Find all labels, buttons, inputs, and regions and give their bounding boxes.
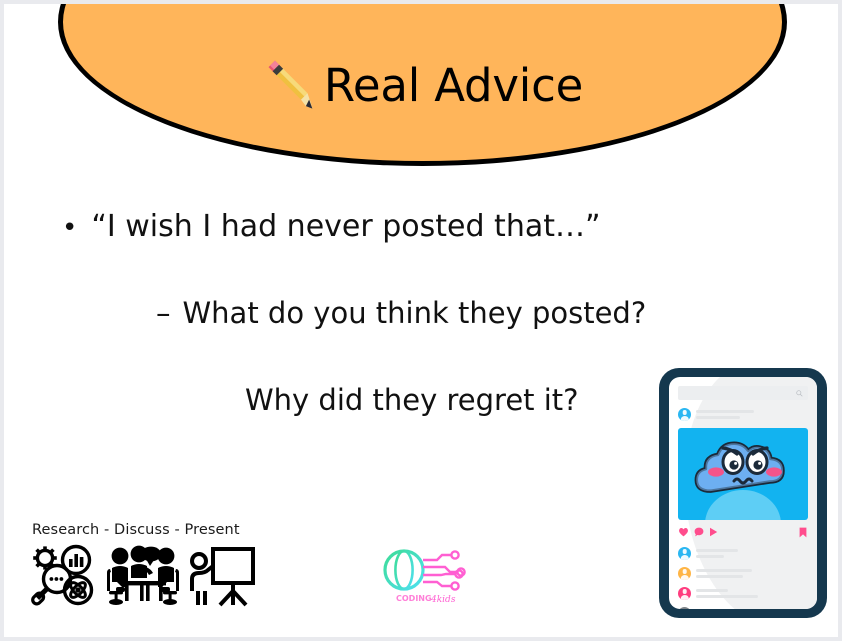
bullet-line-question-2: Why did they regret it?	[245, 385, 579, 417]
slide-frame: Real Advice • “I wish I had never posted…	[0, 0, 842, 641]
dash-marker: –	[156, 298, 171, 330]
comment-placeholder	[696, 589, 758, 598]
slide-canvas: Real Advice • “I wish I had never posted…	[4, 4, 838, 637]
globe-icon	[385, 551, 423, 589]
brand-word-secondary: 4kids	[430, 595, 456, 605]
slide-title-row: Real Advice	[58, 48, 787, 122]
list-item[interactable]	[678, 567, 808, 580]
list-item[interactable]	[678, 587, 808, 600]
search-input[interactable]	[678, 386, 808, 400]
list-item[interactable]	[678, 547, 808, 560]
comment-placeholder	[696, 549, 738, 558]
brand-word-primary: CODING	[396, 594, 432, 603]
post-header	[678, 408, 754, 421]
bullet-line-quote: • “I wish I had never posted that…”	[62, 210, 601, 243]
phone-mockup	[659, 368, 827, 618]
avatar	[678, 547, 691, 560]
footer-caption: Research - Discuss - Present	[32, 522, 278, 538]
bullet-marker: •	[62, 215, 77, 241]
worried-cloud-icon	[678, 428, 808, 520]
bullet-line-quote-text: “I wish I had never posted that…”	[91, 210, 600, 243]
bullet-line-question-1: – What do you think they posted?	[156, 298, 646, 330]
search-icon	[796, 390, 803, 397]
brand-logo: CODING 4kids	[378, 544, 474, 606]
comment-placeholder	[696, 569, 752, 578]
like-icon[interactable]	[678, 527, 689, 537]
avatar	[678, 607, 691, 609]
pencil-icon	[262, 59, 314, 111]
present-icon	[186, 543, 256, 609]
avatar	[678, 567, 691, 580]
phone-screen	[669, 377, 817, 609]
research-icon	[28, 543, 100, 609]
circuit-icon	[423, 551, 465, 589]
comment-list	[678, 547, 808, 609]
comment-icon[interactable]	[694, 527, 704, 537]
bullet-line-question-1-text: What do you think they posted?	[183, 298, 647, 330]
footer-research-discuss-present: Research - Discuss - Present	[28, 522, 278, 609]
discuss-icon	[106, 543, 180, 609]
list-item[interactable]	[678, 607, 808, 609]
page-title: Real Advice	[324, 63, 583, 108]
bookmark-icon[interactable]	[799, 527, 807, 538]
post-actions-left	[678, 527, 718, 537]
footer-icon-row	[28, 543, 278, 609]
avatar	[678, 408, 691, 421]
share-icon[interactable]	[709, 527, 718, 537]
post-image[interactable]	[678, 428, 808, 520]
post-action-row	[678, 527, 808, 539]
post-author-placeholder	[696, 410, 754, 419]
avatar	[678, 587, 691, 600]
